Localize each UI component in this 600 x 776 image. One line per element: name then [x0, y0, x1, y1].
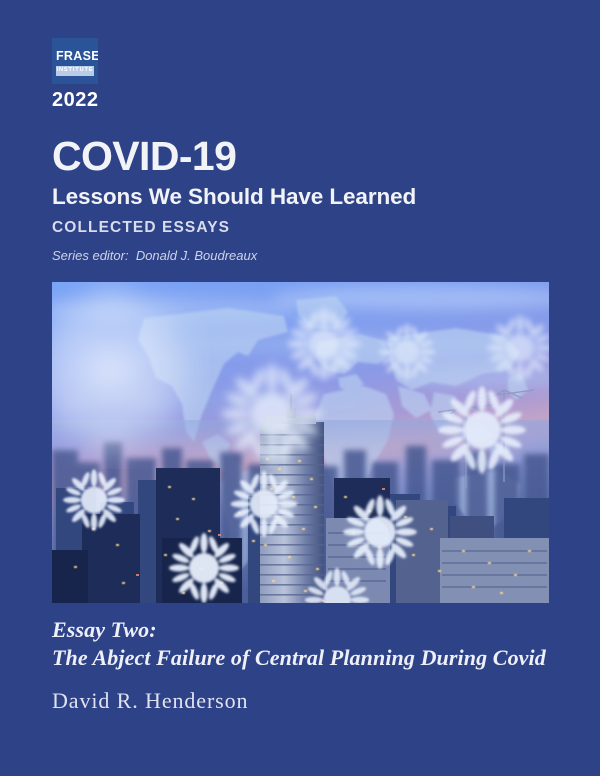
- logo-institute-bar: INSTITUTE: [56, 66, 94, 76]
- logo-institute-text: INSTITUTE: [56, 68, 93, 74]
- page-title: COVID-19: [52, 136, 572, 177]
- essay-number-label: Essay Two:: [52, 616, 582, 644]
- author-name: David R. Henderson: [52, 690, 582, 712]
- publication-year: 2022: [52, 90, 172, 110]
- essay-credit-block: Essay Two: The Abject Failure of Central…: [52, 616, 582, 712]
- page-subtitle: Lessons We Should Have Learned: [52, 186, 572, 209]
- cover-title-block: COVID-19 Lessons We Should Have Learned …: [52, 136, 572, 262]
- series-editor-credit: Series editor: Donald J. Boudreaux: [52, 249, 572, 262]
- fraser-institute-logo-mark: FRASER INSTITUTE: [52, 38, 98, 84]
- cover-illustration: [52, 282, 549, 603]
- cover-artwork: [52, 282, 549, 603]
- publisher-logo-block: FRASER INSTITUTE 2022: [52, 38, 172, 110]
- essay-title: The Abject Failure of Central Planning D…: [52, 644, 582, 672]
- logo-fraser-text: FRASER: [56, 50, 98, 63]
- collection-kicker: COLLECTED ESSAYS: [52, 220, 572, 236]
